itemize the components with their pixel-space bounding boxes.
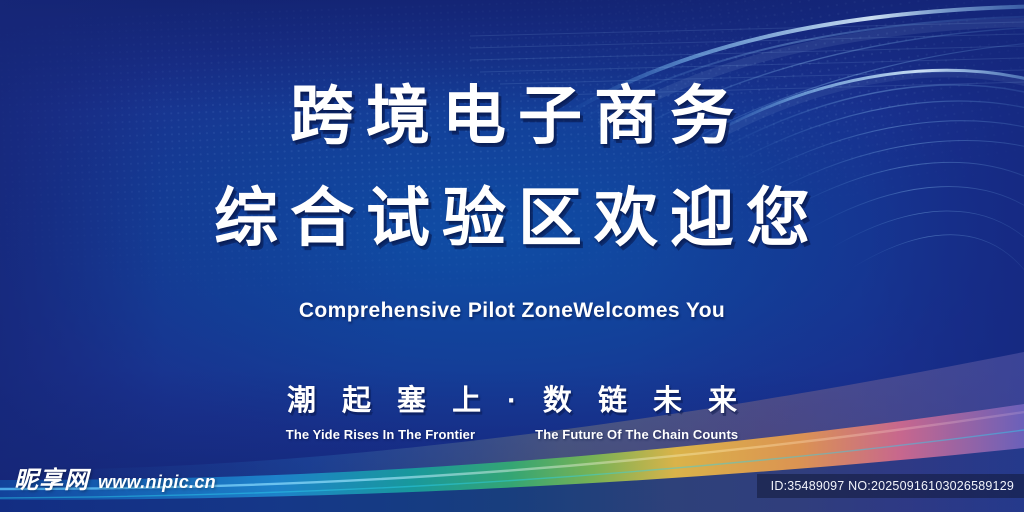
slogan-english-row: The Yide Rises In The Frontier The Futur… [0,427,1024,442]
poster-canvas: 跨境电子商务 综合试验区欢迎您 Comprehensive Pilot Zone… [0,0,1024,512]
image-id-badge: ID:35489097 NO:20250916103026589129 [757,474,1024,498]
subtitle-english: Comprehensive Pilot ZoneWelcomes You [0,299,1024,323]
nipic-logo-text: 昵享网 [14,460,89,495]
nipic-url-text: www.nipic.cn [98,472,216,493]
page-title-line-2: 综合试验区欢迎您 [0,186,1024,250]
slogan-english-right: The Future Of The Chain Counts [535,427,738,442]
watermark: 昵享网 www.nipic.cn [14,460,216,495]
poster-content: 跨境电子商务 综合试验区欢迎您 Comprehensive Pilot Zone… [0,0,1024,512]
page-title-line-1: 跨境电子商务 [0,84,1024,148]
slogan-chinese: 潮 起 塞 上 · 数 链 未 来 [0,377,1024,419]
slogan-english-left: The Yide Rises In The Frontier [286,427,475,442]
